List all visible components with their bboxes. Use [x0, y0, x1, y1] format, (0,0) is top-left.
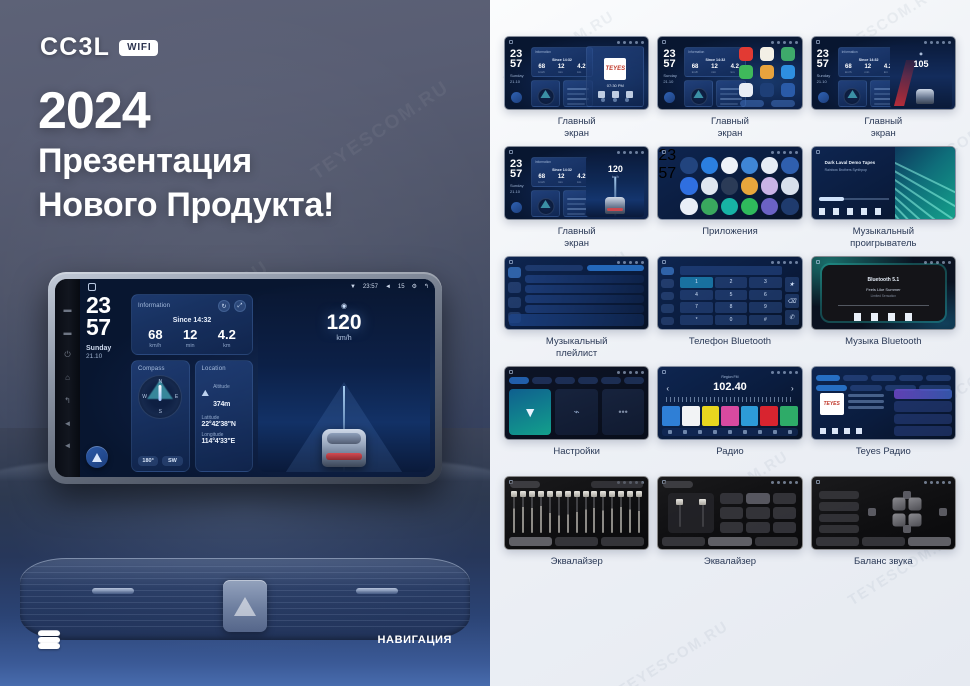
band-slider: [522, 491, 524, 533]
equalizer-tabs[interactable]: [662, 537, 797, 546]
dial-key[interactable]: 0: [715, 315, 747, 326]
band-slider: [638, 491, 640, 533]
now-playing-bar[interactable]: [509, 314, 644, 326]
app-icon-bluetooth-music[interactable]: [721, 157, 738, 174]
app-icon-gallery[interactable]: [760, 65, 774, 79]
information-title: Information: [842, 50, 858, 54]
refresh-icon[interactable]: ↻: [218, 300, 230, 312]
app-icon-search[interactable]: [680, 198, 697, 215]
sound-effect-grid[interactable]: [720, 493, 795, 533]
app-icon-radio[interactable]: [761, 198, 778, 215]
balance-left-button[interactable]: [868, 508, 876, 516]
player-time: 07:30 PM: [587, 83, 643, 88]
progress-bar[interactable]: [838, 305, 929, 306]
playlist-rows[interactable]: [525, 275, 644, 313]
clock-day: Sunday: [86, 344, 126, 353]
clock-column: 23 57 Sunday 21.10: [86, 294, 126, 472]
stat-unit: km/h: [845, 70, 852, 74]
app-icon-clock[interactable]: [781, 157, 798, 174]
repeat-icon: [875, 208, 881, 215]
thumbnail-sound-balance[interactable]: [811, 476, 956, 550]
mute-key[interactable]: ▬: [64, 329, 72, 337]
effect-treble: [773, 522, 796, 533]
hero-footer: НАВИГАЦИЯ: [38, 630, 452, 650]
thumbnail-music-player[interactable]: Dark Laval Demo Tapes Rainbow Brothers S…: [811, 146, 956, 220]
thumbnail-home-player[interactable]: 23 57 Sunday21.10 Information Since 14:3…: [504, 36, 649, 110]
thumbnail-equalizer-fader[interactable]: [657, 476, 802, 550]
band-slider: [611, 491, 613, 533]
tab-stations: [871, 375, 896, 381]
altitude-label: Altitude: [213, 384, 230, 390]
grid-icon: [788, 430, 792, 434]
band-slider: [629, 491, 631, 533]
mini-clock-sub: Sunday21.10: [817, 73, 831, 85]
mini-clock: 23 57: [510, 159, 522, 180]
favorite-icon: [698, 430, 702, 434]
tab-folder: [587, 265, 645, 271]
band-slider: [513, 491, 515, 533]
home-icon: [662, 150, 666, 154]
navigation-fab-button[interactable]: [86, 446, 108, 468]
head-unit-side-keys[interactable]: ▬ ▬ ⏻ ⌂ ↰ ◄ ◄: [55, 279, 80, 477]
list-item: [525, 305, 644, 313]
tab-system: [578, 377, 598, 384]
dial-key[interactable]: 4: [680, 290, 712, 301]
list-item: [894, 389, 952, 399]
mini-clock-sub: Sunday21.10: [510, 73, 524, 85]
app-icon-wifi[interactable]: [680, 157, 697, 174]
album-art-label: TEYES: [605, 66, 625, 72]
thumbnail-teyes-radio[interactable]: TEYES: [811, 366, 956, 440]
volume-level: 15: [398, 284, 405, 290]
carplay-card[interactable]: ⌁: [555, 389, 597, 435]
car-3d-model: [322, 429, 366, 467]
app-icon-more[interactable]: [781, 198, 798, 215]
stat-unit: km/h: [692, 70, 699, 74]
driving-view-panel[interactable]: ◉ 105: [890, 45, 952, 108]
stat-unit: min: [558, 70, 565, 74]
balance-pad[interactable]: [868, 491, 947, 533]
app-icon-google[interactable]: [781, 177, 798, 194]
back-arrow-icon[interactable]: ↰: [424, 283, 429, 290]
player-controls[interactable]: [819, 208, 881, 215]
preset-label: [663, 481, 693, 488]
navigation-arrow-icon: [92, 453, 102, 462]
thumbnail-caption: Главныйэкран: [711, 116, 749, 140]
band-slider: [620, 491, 622, 533]
dial-key[interactable]: 7: [680, 302, 712, 313]
sidebar-item-tracks: [508, 267, 521, 278]
compass-dial: N E S W: [138, 375, 182, 419]
home-icon: [509, 370, 513, 374]
star-icon[interactable]: ★: [785, 277, 799, 292]
grid-cell[interactable]: 23 57 Sunday21.10 Information Since 14:3…: [811, 36, 956, 140]
next-icon: [861, 208, 867, 215]
thumbnail-caption: Музыкальныйпроигрыватель: [850, 226, 916, 250]
app-icon-chrome[interactable]: [680, 177, 697, 194]
band-slider: [549, 491, 551, 533]
stat-unit: min: [864, 70, 871, 74]
application-grid[interactable]: [680, 157, 798, 215]
home-icon: [662, 40, 666, 44]
speed-value: 105: [890, 59, 952, 69]
speed-unit: km/h: [336, 335, 351, 342]
grid-cell[interactable]: 23 57 Sunday21.10 Information Since 14:3…: [504, 146, 649, 250]
screenshot-grid-panel: TEYESCOM.RU TEYESCOM.RU TEYESCOM.RU TEYE…: [490, 0, 970, 686]
information-since: Since 14:32: [138, 317, 246, 324]
compass-dial: [690, 88, 707, 105]
thumbnail-caption: Главныйэкран: [558, 226, 596, 250]
status-icons: [924, 261, 951, 264]
frequency-scale[interactable]: [666, 397, 793, 402]
station-presets[interactable]: [662, 406, 797, 426]
app-icon-compass[interactable]: [760, 47, 774, 61]
preset-label: [510, 481, 540, 488]
list-item: [525, 275, 644, 283]
radio-band: Region FM: [658, 375, 801, 379]
app-icon-maps[interactable]: [701, 198, 718, 215]
phone-sidebar[interactable]: [661, 267, 674, 325]
car-3d-model: [916, 89, 934, 104]
list-icon: [713, 430, 717, 434]
thumbnail-caption: Настройки: [553, 446, 600, 470]
dial-key[interactable]: 1: [680, 277, 712, 288]
preset-rear: [819, 514, 859, 522]
location-title: Location: [202, 366, 247, 372]
speed-icon: ◉: [890, 51, 952, 56]
dial-key[interactable]: 6: [749, 290, 781, 301]
status-icons: [617, 151, 644, 154]
app-icon-bluetooth[interactable]: [701, 157, 718, 174]
information-stats: 68km/h 12min 4.2km: [532, 64, 592, 74]
tab-all: [525, 265, 583, 271]
stat-unit: km: [577, 70, 585, 74]
thumbnail-caption: Приложения: [702, 226, 758, 250]
vent-control-right[interactable]: [356, 588, 398, 594]
effect-bass: [746, 522, 769, 533]
mini-status-bar: [509, 39, 644, 45]
information-title: Information: [535, 50, 551, 54]
grid-cell[interactable]: TEYES Teyes Радио: [811, 366, 956, 470]
head-unit-bezel: ▬ ▬ ⏻ ⌂ ↰ ◄ ◄ ▼ 23:57 ◄: [48, 272, 442, 484]
driving-view-panel[interactable]: ◉ 120 km/h: [258, 294, 430, 472]
grid-cell[interactable]: Баланс звука: [811, 476, 956, 580]
balance-right-button[interactable]: [939, 508, 947, 516]
mini-status-bar: [662, 149, 797, 155]
equalizer-tabs[interactable]: [509, 537, 644, 546]
preset-5: [741, 406, 759, 426]
clock-minutes: 57: [86, 316, 126, 338]
app-icon-spotify[interactable]: [739, 65, 753, 79]
stat-item: 68 km/h: [148, 328, 162, 349]
band-slider: [585, 491, 587, 533]
st-icon: [743, 430, 747, 434]
wifi-icon: ▼: [350, 284, 356, 290]
compass-card[interactable]: Compass N E S W: [131, 360, 190, 472]
grid-cell[interactable]: 23 57 Sunday21.10 Information Since 14:3…: [657, 36, 802, 140]
dialpad-actions[interactable]: ★ ⌫ ✆: [785, 277, 799, 325]
mini-status-bar: [816, 259, 951, 265]
app-icon-contacts[interactable]: [701, 177, 718, 194]
effect-flat: [720, 493, 743, 504]
app-dock-footer[interactable]: [737, 100, 799, 107]
tab-eq: [816, 537, 859, 546]
music-player-tile[interactable]: TEYES 07:30 PM: [586, 46, 644, 107]
thumbnail-caption: Главныйэкран: [558, 116, 596, 140]
prev-icon: [833, 208, 839, 215]
player-extra-buttons[interactable]: [587, 98, 643, 102]
settings-icon: [773, 430, 777, 434]
app-icon-play-store[interactable]: [739, 83, 753, 97]
thumbnail-home-road[interactable]: 23 57 Sunday21.10 Information Since 14:3…: [504, 146, 649, 220]
app-icon-calculator[interactable]: [741, 157, 758, 174]
tab-eq: [662, 537, 705, 546]
effect-pop: [773, 493, 796, 504]
headline-line-2: Нового Продукта!: [38, 185, 334, 226]
radio-toolbar[interactable]: [662, 428, 797, 436]
app-dock-grid[interactable]: [737, 45, 799, 99]
app-icon-mail[interactable]: [781, 65, 795, 79]
fader-slider: [679, 499, 681, 528]
wifi-icon: ▼: [523, 404, 537, 420]
effect-classic: [773, 507, 796, 518]
next-station-button[interactable]: ›: [791, 384, 794, 393]
thumbnail-caption: Музыкальныйплейлист: [546, 336, 607, 360]
player-controls[interactable]: [587, 91, 643, 98]
mini-clock: 23 57: [817, 49, 829, 70]
call-icon[interactable]: ✆: [785, 310, 799, 325]
speed-value: 120: [326, 312, 361, 333]
subtab-pop: [850, 385, 882, 391]
home-key[interactable]: ⌂: [65, 374, 70, 382]
app-icon-all-apps[interactable]: [781, 83, 795, 97]
grid-cell[interactable]: 1 2 3 4 5 6 7 8 9 * 0 # ★: [657, 256, 802, 360]
next-icon: [905, 313, 912, 321]
band-slider: [540, 491, 542, 533]
information-actions: ↻ ⤢: [218, 300, 246, 312]
thumbnail-bluetooth-phone[interactable]: 1 2 3 4 5 6 7 8 9 * 0 # ★: [657, 256, 802, 330]
speed-unit: km/h: [586, 175, 644, 179]
app-icon-music[interactable]: [721, 198, 738, 215]
compass-needle: [159, 385, 162, 401]
fader-sliders[interactable]: [668, 493, 714, 533]
stop-icon: [888, 313, 895, 321]
tab-wlan: [509, 377, 529, 384]
menu-key[interactable]: ▬: [64, 306, 72, 314]
information-stats: 68 km/h 12 min 4.2: [138, 328, 246, 349]
layers-icon: [38, 630, 60, 650]
wifi-card[interactable]: ▼: [509, 389, 551, 435]
dial-key[interactable]: 3: [749, 277, 781, 288]
preset-6: [760, 406, 778, 426]
band-icon: [668, 430, 672, 434]
carplay-icon: ⌁: [574, 407, 580, 418]
thumbnail-bluetooth-music[interactable]: Bluetooth 5.1 Feels Like Summer Limited …: [811, 256, 956, 330]
app-icon-gallery[interactable]: [761, 177, 778, 194]
list-item: [525, 295, 644, 303]
volume-down-key[interactable]: ◄: [64, 420, 72, 428]
grid-cell[interactable]: Dark Laval Demo Tapes Rainbow Brothers S…: [811, 146, 956, 250]
player-controls[interactable]: [820, 428, 862, 434]
app-icon-camera[interactable]: [761, 157, 778, 174]
status-icons: [771, 261, 798, 264]
thumbnail-caption: Эквалайзер: [704, 556, 756, 580]
equalizer-tabs[interactable]: [816, 537, 951, 546]
settings-cards[interactable]: ▼ ⌁ •••: [509, 389, 644, 435]
mini-clock: 23 57: [510, 49, 522, 70]
information-since: Since 14:32: [532, 168, 592, 172]
band-slider: [567, 491, 569, 533]
app-icon-play-store[interactable]: [741, 198, 758, 215]
track-artist: Limited Sensation: [822, 294, 945, 298]
playlist-tabs[interactable]: [525, 265, 644, 271]
headline-year: 2024: [38, 84, 334, 138]
thumbnail-grid: 23 57 Sunday21.10 Information Since 14:3…: [504, 36, 956, 580]
grid-cell[interactable]: Эквалайзер: [657, 476, 802, 580]
more-card[interactable]: •••: [602, 389, 644, 435]
settings-tabs[interactable]: [509, 377, 644, 384]
app-icon-maps[interactable]: [781, 47, 795, 61]
thumbnail-caption: Музыка Bluetooth: [845, 336, 921, 360]
backspace-icon[interactable]: ⌫: [785, 294, 799, 309]
band-slider: [602, 491, 604, 533]
thumbnail-apps-grid[interactable]: 23 57: [657, 146, 802, 220]
altitude-row: ⛰ Altitude 374m: [202, 375, 247, 411]
thumbnail-home-redroad[interactable]: 23 57 Sunday21.10 Information Since 14:3…: [811, 36, 956, 110]
clock-hours: 23: [86, 294, 126, 316]
app-icon-equalizer[interactable]: [721, 177, 738, 194]
information-stats: 68km/h 12min 4.2km: [532, 174, 592, 184]
thumbnail-settings[interactable]: ▼ ⌁ •••: [504, 366, 649, 440]
app-icon-filemanager[interactable]: [741, 177, 758, 194]
bluetooth-badge: Bluetooth 5.1: [822, 277, 945, 283]
compass-card: [684, 80, 713, 107]
connection-status: [680, 266, 781, 275]
tab-balance: [755, 537, 798, 546]
grid-cell[interactable]: Region FM ‹ 102.40 ›: [657, 366, 802, 470]
dialpad[interactable]: 1 2 3 4 5 6 7 8 9 * 0 #: [680, 277, 781, 325]
dial-key[interactable]: *: [680, 315, 712, 326]
navigation-fab-button[interactable]: [664, 92, 675, 103]
progress-bar[interactable]: [819, 198, 889, 200]
thumbnail-radio[interactable]: Region FM ‹ 102.40 ›: [657, 366, 802, 440]
mini-clock: 23 57: [663, 49, 675, 70]
grid-cell[interactable]: Эквалайзер: [504, 476, 649, 580]
favorite-icon: [856, 428, 862, 434]
thumbnail-equalizer-bands[interactable]: [504, 476, 649, 550]
thumbnail-caption: Радио: [716, 446, 743, 470]
band-slider: [593, 491, 595, 533]
balance-presets[interactable]: [819, 491, 859, 533]
play-pause-icon: [847, 208, 853, 215]
information-card[interactable]: Information ↻ ⤢ Since 14:32: [131, 294, 253, 355]
altitude-value: 374m: [213, 401, 230, 408]
album-art: TEYES: [604, 58, 626, 80]
headline: 2024 Презентация Нового Продукта!: [38, 84, 334, 226]
tab-search: [926, 375, 951, 381]
thumbnail-home-apps[interactable]: 23 57 Sunday21.10 Information Since 14:3…: [657, 36, 802, 110]
stat-unit: min: [558, 180, 565, 184]
equalizer-bands[interactable]: [513, 491, 640, 533]
grid-cell[interactable]: ▼ ⌁ ••• Настройки: [504, 366, 649, 470]
home-icon: [816, 260, 820, 264]
teyes-radio-tabs[interactable]: [816, 375, 951, 381]
hazard-triangle-icon: [234, 597, 256, 616]
app-icon-settings[interactable]: [760, 83, 774, 97]
gear-icon[interactable]: ⚙: [412, 283, 417, 290]
stat-unit: km: [577, 180, 585, 184]
app-dock[interactable]: [737, 45, 799, 108]
thumbnail-playlist[interactable]: [504, 256, 649, 330]
expand-icon[interactable]: ⤢: [234, 300, 246, 312]
app-icon-youtube[interactable]: [739, 47, 753, 61]
volume-up-key[interactable]: ◄: [64, 442, 72, 450]
thumbnail-caption: Эквалайзер: [551, 556, 603, 580]
dial-key[interactable]: #: [749, 315, 781, 326]
compass-dial: [844, 88, 861, 105]
home-icon: [816, 40, 820, 44]
station-list[interactable]: [894, 389, 952, 436]
home-icon: [662, 370, 666, 374]
mini-clock-sub: Sunday21.10: [510, 183, 524, 195]
information-title: Information: [535, 160, 551, 164]
power-key[interactable]: ⏻: [64, 351, 70, 359]
vent-control-left[interactable]: [92, 588, 134, 594]
grid-cell[interactable]: Музыкальныйплейлист: [504, 256, 649, 360]
list-item: [894, 426, 952, 436]
preset-7: [780, 406, 798, 426]
driving-view-panel[interactable]: 120 km/h: [586, 156, 644, 217]
player-controls[interactable]: [822, 313, 945, 321]
status-icons: [617, 41, 644, 44]
longitude-value: 114°4'33"E: [202, 438, 247, 445]
dial-key[interactable]: 5: [715, 290, 747, 301]
car-3d-model: [605, 197, 625, 214]
hazard-light-button[interactable]: [223, 580, 267, 632]
widget-column: Information ↻ ⤢ Since 14:32: [131, 294, 253, 472]
sidebar-item-favorites: [508, 297, 521, 308]
mini-clock-sub: Sunday21.10: [663, 73, 677, 85]
status-icons: [771, 371, 798, 374]
head-unit-display[interactable]: ▼ 23:57 ◄ 15 ⚙ ↰ 23 57: [80, 279, 435, 477]
clock-minutes: 57: [658, 165, 676, 182]
tab-podcasts: [899, 375, 924, 381]
stop-icon: [832, 428, 838, 434]
home-icon: [816, 150, 820, 154]
navigation-fab-button[interactable]: [511, 202, 522, 213]
grid-cell[interactable]: 23 57 Sunday21.10 Information Since 14:3…: [504, 36, 649, 140]
dial-key[interactable]: 8: [715, 302, 747, 313]
home-icon[interactable]: [88, 283, 96, 291]
dial-key[interactable]: 2: [715, 277, 747, 288]
navigation-fab-button[interactable]: [818, 92, 829, 103]
status-icons: [617, 371, 644, 374]
tab-display: [555, 377, 575, 384]
mini-status-bar: [509, 369, 644, 375]
grid-cell[interactable]: 23 57: [657, 146, 802, 250]
player-info: Dark Laval Demo Tapes Rainbow Brothers S…: [815, 156, 895, 216]
location-card[interactable]: Location ⛰ Altitude 374m: [195, 360, 254, 472]
back-key[interactable]: ↰: [64, 397, 71, 405]
thumbnail-caption: Teyes Радио: [856, 446, 911, 470]
grid-cell[interactable]: Bluetooth 5.1 Feels Like Summer Limited …: [811, 256, 956, 360]
navigation-fab-button[interactable]: [511, 92, 522, 103]
preset-buttons[interactable]: [591, 481, 643, 488]
mini-status-bar: [662, 259, 797, 265]
compass-south: S: [159, 409, 162, 415]
next-icon: [844, 428, 850, 434]
dial-key[interactable]: 9: [749, 302, 781, 313]
